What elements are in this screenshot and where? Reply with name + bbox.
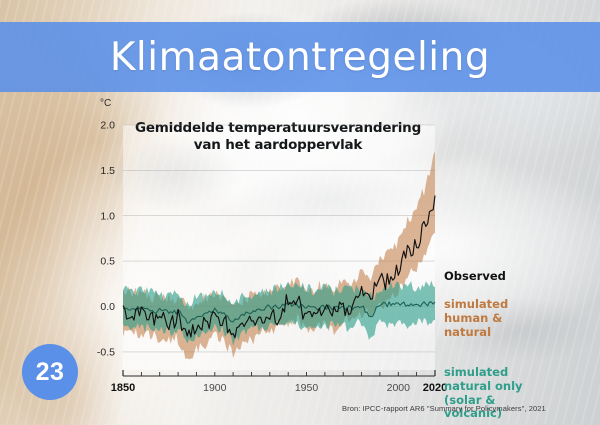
legend-observed-label: Observed [444,270,506,284]
x-tick-labels: 18501900195020002020 [111,382,447,394]
y-tick-labels: 2.01.51.00.50.0-0.5 [97,120,115,359]
x-axis [123,370,435,376]
slide-title: Klimaatontregeling [110,38,490,77]
legend-human-natural-line-1: simulated [444,298,508,312]
y-tick-label: 0.0 [100,301,115,313]
y-tick-label: 2.0 [100,120,115,132]
legend-human-natural-line-2: human & [444,312,508,326]
legend-natural-only-line-1: simulated [444,366,523,380]
title-banner: Klimaatontregeling [0,22,600,92]
x-tick-label: 1900 [203,382,227,394]
source-note: Bron: IPCC-rapport AR6 "Summary for Poli… [342,404,546,413]
slide: Klimaatontregeling 23 °C Gemiddelde temp… [0,0,600,425]
legend-item-human-natural: simulated human & natural [444,298,508,339]
legend-natural-only-line-2: natural only [444,380,523,394]
y-tick-label: -0.5 [97,347,115,359]
legend-item-observed: Observed [444,270,506,284]
chart: °C Gemiddelde temperatuursverandering va… [0,98,600,398]
y-tick-label: 1.5 [100,165,115,177]
x-tick-label: 2000 [387,382,411,394]
x-tick-label: 1950 [295,382,319,394]
y-tick-label: 1.0 [100,210,115,222]
y-tick-label: 0.5 [100,256,115,268]
x-tick-label: 1850 [111,382,135,394]
plot-svg: 2.01.51.00.50.0-0.5 18501900195020002020 [0,98,600,398]
legend-human-natural-line-3: natural [444,326,508,340]
